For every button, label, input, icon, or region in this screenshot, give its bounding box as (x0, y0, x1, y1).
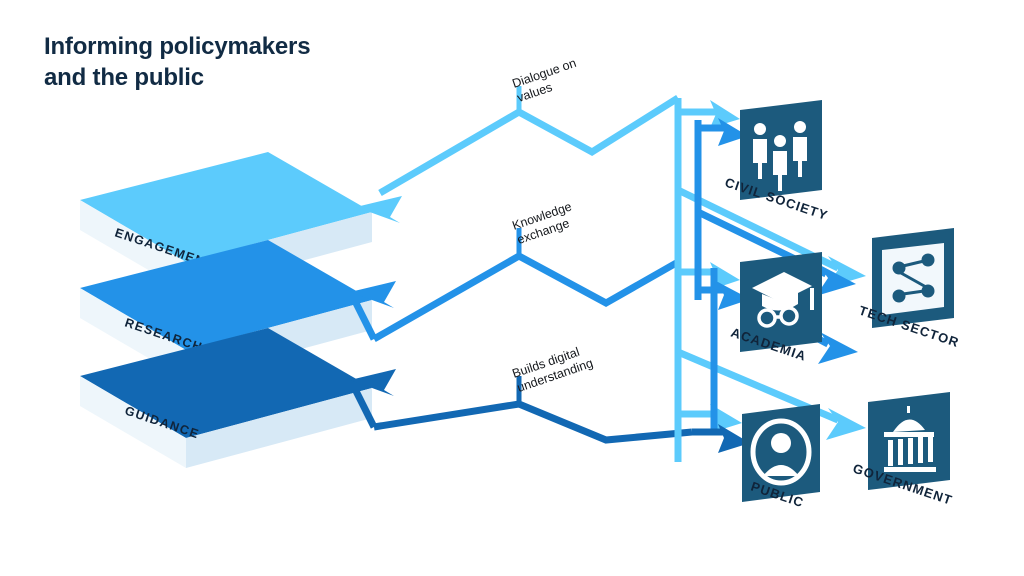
layer-slab-guidance[interactable]: GUIDANCE (80, 328, 372, 468)
actor-tile-government[interactable]: GOVERNMENT (851, 392, 955, 508)
actor-tile-academia[interactable]: ACADEMIA (729, 252, 822, 364)
connector-dialogue-on-values[interactable]: Dialogue on values (356, 55, 678, 223)
connector-builds-digital-understanding[interactable]: Builds digital understanding (350, 342, 692, 440)
connector-path (380, 98, 678, 193)
connector-label-knowledge-exchange: Knowledge exchange (510, 198, 581, 247)
actor-tile-tech-sector[interactable]: TECH SECTOR (857, 228, 961, 350)
arrowhead-government (818, 332, 858, 364)
connector-label-dialogue-on-values: Dialogue on values (510, 55, 586, 105)
connector-path (374, 404, 692, 440)
connector-knowledge-exchange[interactable]: Knowledge exchange (350, 198, 678, 339)
actor-tile-public[interactable]: PUBLIC (742, 404, 820, 510)
arrowhead-government (826, 408, 866, 440)
connector-label-builds-digital-understanding: Builds digital understanding (510, 342, 594, 395)
connector-path (374, 256, 678, 339)
infographic-canvas: Informing policymakers and the public EN… (0, 0, 1024, 576)
diagram-scene: ENGAGEMENT RESEARCH GUIDANCE Dialogue on (0, 0, 1024, 576)
